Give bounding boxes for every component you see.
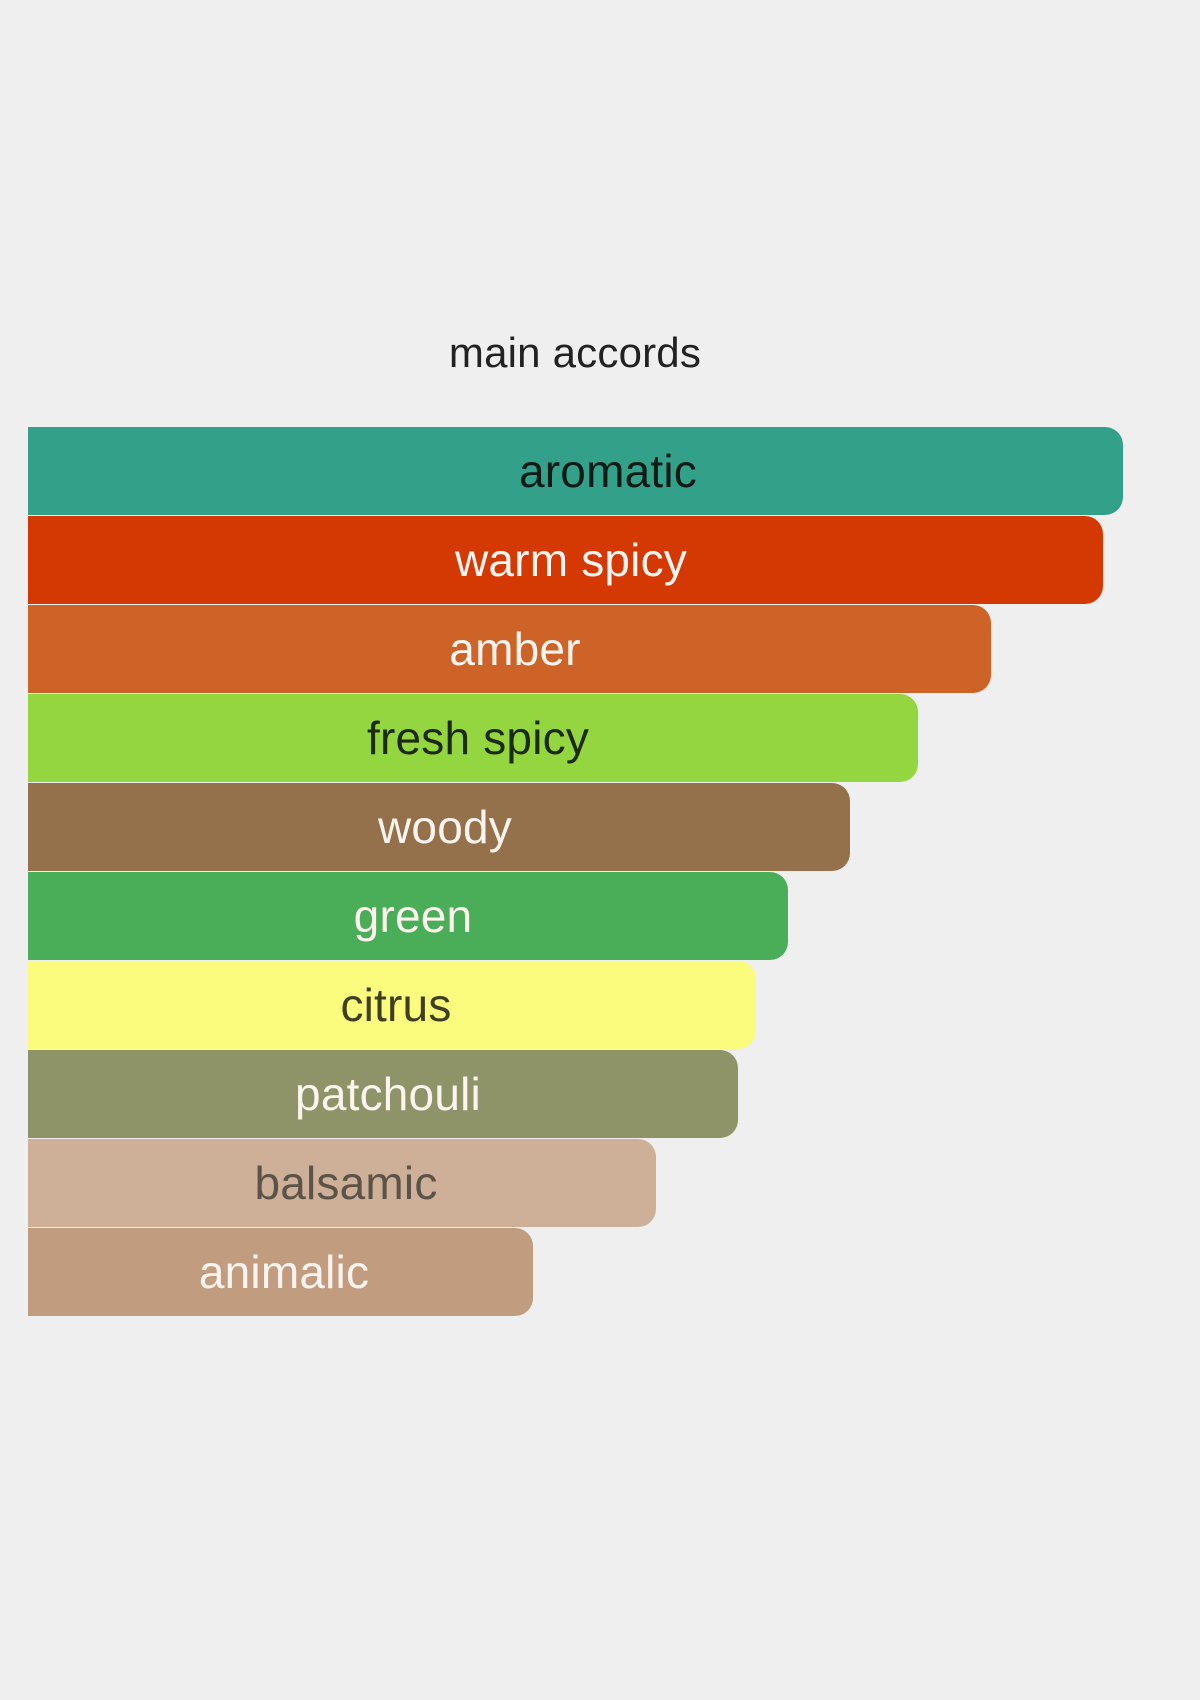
main-accords-chart: main accords aromaticwarm spicyamberfres… bbox=[0, 0, 1200, 1700]
bar-label: patchouli bbox=[88, 1050, 688, 1138]
bar-label: warm spicy bbox=[271, 516, 871, 604]
bar-row[interactable]: animalic bbox=[28, 1228, 1178, 1317]
bar-row[interactable]: balsamic bbox=[28, 1139, 1178, 1228]
bar-row[interactable]: amber bbox=[28, 605, 1178, 694]
chart-title: main accords bbox=[0, 332, 1150, 374]
bar-row[interactable]: fresh spicy bbox=[28, 694, 1178, 783]
bar-label: amber bbox=[215, 605, 815, 693]
bar-label: green bbox=[113, 872, 713, 960]
bar-row[interactable]: aromatic bbox=[28, 427, 1178, 516]
bar-row[interactable]: warm spicy bbox=[28, 516, 1178, 605]
bar-label: aromatic bbox=[308, 427, 908, 515]
bar-label: balsamic bbox=[46, 1139, 646, 1227]
bar-row[interactable]: citrus bbox=[28, 961, 1178, 1050]
bar-row[interactable]: woody bbox=[28, 783, 1178, 872]
bar-row[interactable]: patchouli bbox=[28, 1050, 1178, 1139]
bar-label: fresh spicy bbox=[178, 694, 778, 782]
bar-row[interactable]: green bbox=[28, 872, 1178, 961]
bar-list: aromaticwarm spicyamberfresh spicywoodyg… bbox=[28, 427, 1178, 1327]
bar-label: woody bbox=[145, 783, 745, 871]
bar-label: animalic bbox=[0, 1228, 584, 1316]
bar-label: citrus bbox=[96, 961, 696, 1049]
